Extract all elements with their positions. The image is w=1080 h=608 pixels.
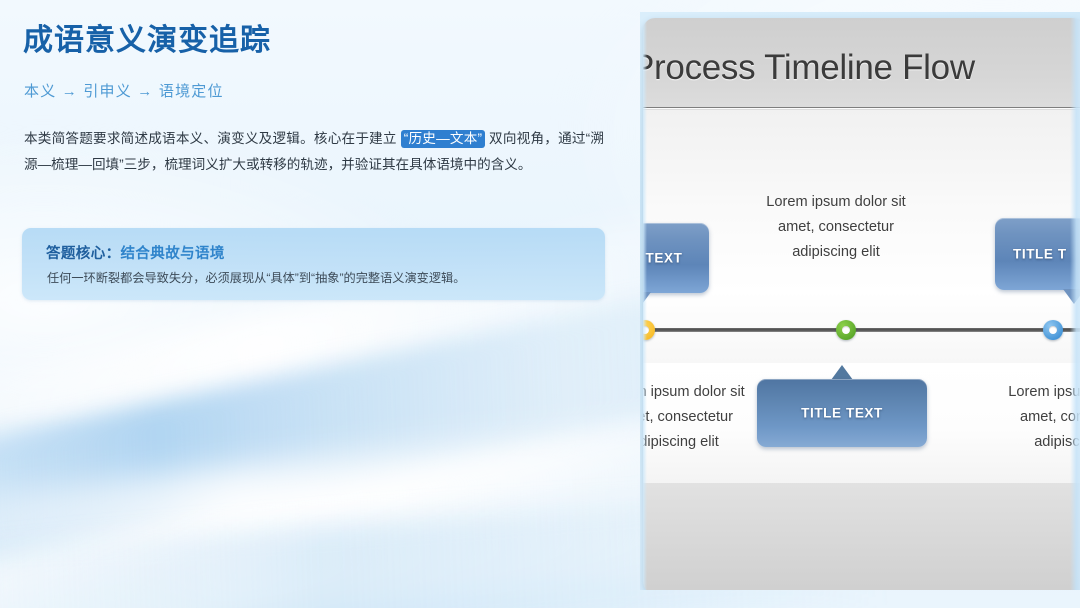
timeline-node-blue-icon (1043, 320, 1063, 340)
lorem-text-top: Lorem ipsum dolor sit amet, consectetur … (756, 190, 916, 265)
process-timeline-slide: Process Timeline Flow Lorem ipsum dolor … (643, 18, 1080, 590)
frame-edge-left (643, 18, 647, 590)
diagram-title: Process Timeline Flow (643, 48, 1080, 88)
diagram-image-frame: Process Timeline Flow Lorem ipsum dolor … (640, 12, 1080, 590)
timeline-node-green-icon (836, 320, 856, 340)
page-subtitle: 本义 → 引申义 → 语境定位 (24, 80, 224, 101)
bubble-left-label: TEXT (643, 251, 699, 266)
body-text-part-1: 本类简答题要求简述成语本义、演变义及逻辑。核心在于建立 (24, 131, 397, 146)
callout-body-text: 任何一环断裂都会导致失分，必须展现从“具体”到“抽象”的完整语义演变逻辑。 (47, 269, 587, 288)
bubble-right: TITLE T (995, 218, 1080, 290)
frame-edge-right (1070, 18, 1080, 590)
highlighted-term: “历史—文本” (401, 130, 485, 148)
callout-accent: 结合典故与语境 (121, 246, 225, 262)
lorem-text-bottom-right: Lorem ipsum dolor sit amet, consectetur … (998, 380, 1080, 455)
key-point-callout: 答题核心：结合典故与语境 任何一环断裂都会导致失分，必须展现从“具体”到“抽象”… (22, 228, 605, 300)
page-title: 成语意义演变追踪 (23, 23, 271, 59)
bubble-center-label: TITLE TEXT (757, 406, 927, 421)
body-paragraph: 本类简答题要求简述成语本义、演变义及逻辑。核心在于建立 “历史—文本” 双向视角… (24, 126, 604, 178)
slide-canvas: 成语意义演变追踪 本义 → 引申义 → 语境定位 本类简答题要求简述成语本义、演… (0, 0, 1080, 608)
timeline-axis (643, 328, 1080, 332)
title-divider (643, 107, 1080, 108)
bubble-left: TEXT (643, 223, 709, 293)
callout-title: 答题核心：结合典故与语境 (46, 242, 225, 263)
lorem-text-bottom-left: Lorem ipsum dolor sit amet, consectetur … (643, 380, 755, 455)
bubble-center-tail (831, 365, 853, 380)
text-column: 成语意义演变追踪 本义 → 引申义 → 语境定位 本类简答题要求简述成语本义、演… (0, 0, 640, 608)
bubble-center: TITLE TEXT (757, 379, 927, 447)
callout-label: 答题核心： (46, 246, 121, 262)
